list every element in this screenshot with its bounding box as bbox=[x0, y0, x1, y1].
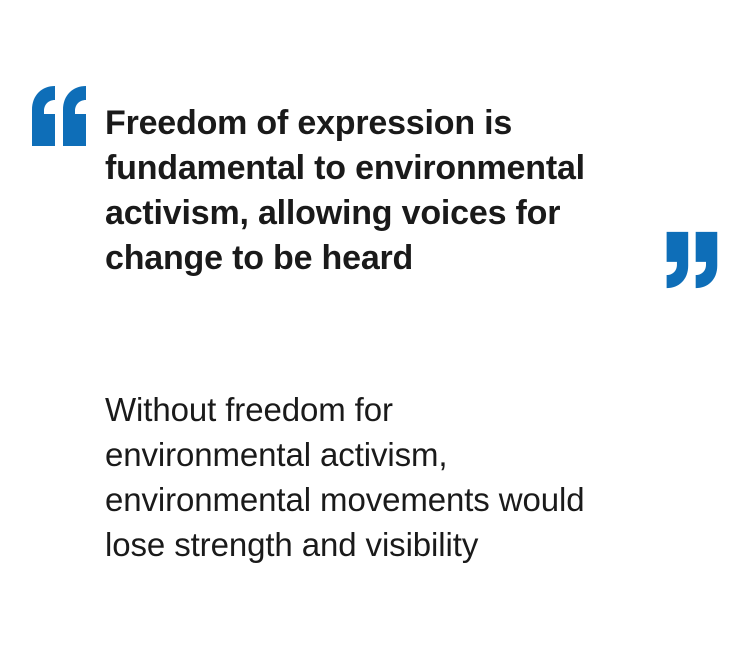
quote-headline-line: Freedom of expression is bbox=[105, 101, 665, 146]
quote-body-line: Without freedom for bbox=[105, 387, 675, 432]
close-quote-icon bbox=[661, 230, 721, 290]
quote-body-line: lose strength and visibility bbox=[105, 522, 675, 567]
quote-headline: Freedom of expression is fundamental to … bbox=[105, 101, 665, 281]
quote-headline-line: activism, allowing voices for bbox=[105, 191, 665, 236]
quote-body-text: Without freedom for environmental activi… bbox=[105, 387, 675, 567]
quote-body-line: environmental movements would bbox=[105, 477, 675, 522]
quote-card: Freedom of expression is fundamental to … bbox=[0, 0, 750, 650]
quote-headline-line: change to be heard bbox=[105, 236, 665, 281]
open-quote-icon bbox=[28, 84, 92, 148]
quote-body-line: environmental activism, bbox=[105, 432, 675, 477]
quote-headline-line: fundamental to environmental bbox=[105, 146, 665, 191]
